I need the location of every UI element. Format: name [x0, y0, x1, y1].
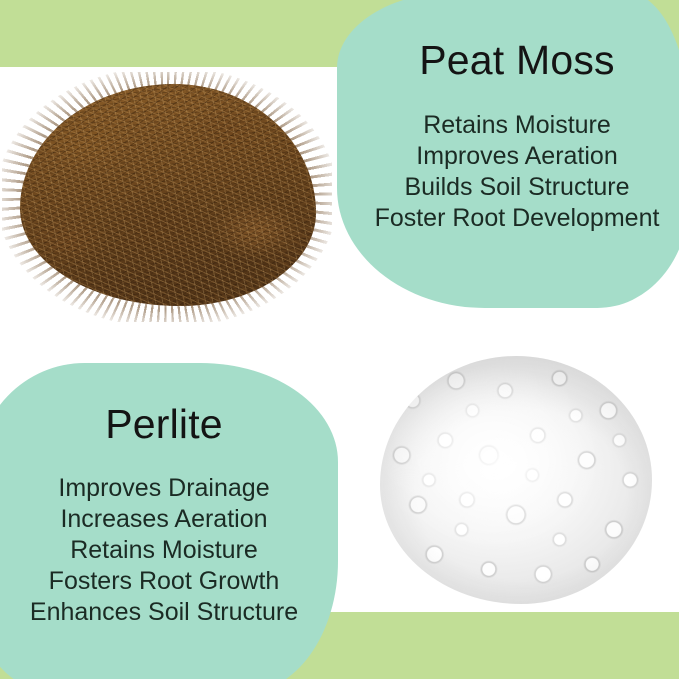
peat-moss-title: Peat Moss — [357, 38, 677, 82]
peat-moss-pile-photo — [2, 72, 332, 322]
perlite-granules-photo — [372, 350, 662, 612]
peat-moss-panel: Peat Moss Retains Moisture Improves Aera… — [357, 38, 677, 234]
peat-moss-edge-strands — [2, 72, 332, 322]
perlite-benefit-item: Fosters Root Growth — [4, 566, 324, 597]
perlite-title: Perlite — [4, 402, 324, 446]
peat-moss-benefit-item: Foster Root Development — [357, 203, 677, 234]
infographic-canvas: Peat Moss Retains Moisture Improves Aera… — [0, 0, 679, 679]
perlite-mound-shape — [380, 356, 652, 604]
perlite-benefit-item: Retains Moisture — [4, 535, 324, 566]
peat-moss-benefit-item: Improves Aeration — [357, 141, 677, 172]
peat-moss-benefit-item: Retains Moisture — [357, 110, 677, 141]
perlite-benefit-list: Improves Drainage Increases Aeration Ret… — [4, 473, 324, 628]
perlite-shading-overlay — [380, 356, 652, 604]
perlite-panel: Perlite Improves Drainage Increases Aera… — [4, 402, 324, 628]
perlite-benefit-item: Increases Aeration — [4, 504, 324, 535]
perlite-benefit-item: Enhances Soil Structure — [4, 597, 324, 628]
peat-moss-benefit-item: Builds Soil Structure — [357, 172, 677, 203]
peat-moss-benefit-list: Retains Moisture Improves Aeration Build… — [357, 110, 677, 234]
perlite-benefit-item: Improves Drainage — [4, 473, 324, 504]
